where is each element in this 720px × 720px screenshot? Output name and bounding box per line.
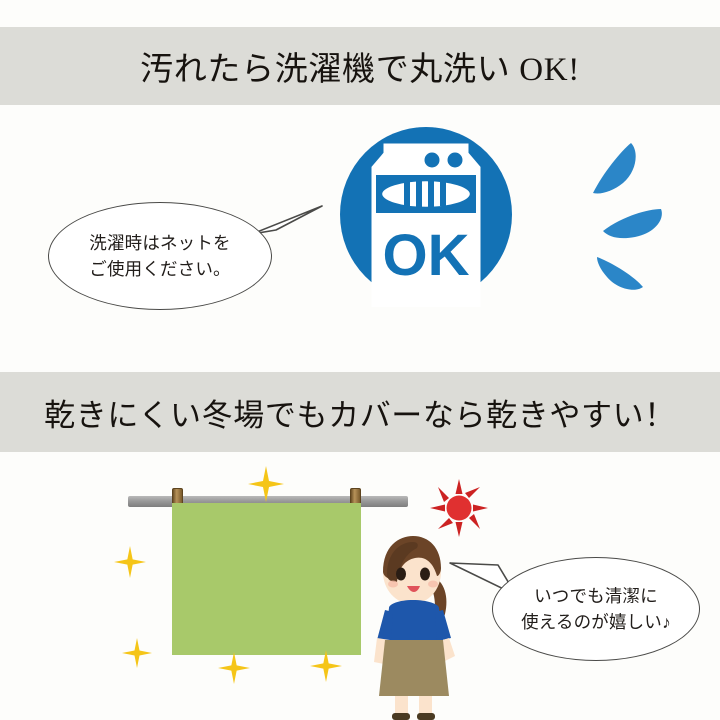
bubble-happy-line-2: 使えるのが嬉しい♪ xyxy=(521,609,671,635)
headline-text-wash: 汚れたら洗濯機で丸洗い OK! xyxy=(140,42,580,90)
washing-machine-ok-label: OK xyxy=(383,223,470,288)
headline-banner-wash: 汚れたら洗濯機で丸洗い OK! xyxy=(0,27,720,105)
speech-bubble-wash: 洗濯時はネットを ご使用ください。 xyxy=(48,202,272,310)
speech-bubble-happy-text: いつでも清潔に 使えるのが嬉しい♪ xyxy=(521,583,671,636)
sparkle-icon xyxy=(122,638,152,668)
speech-bubble-happy: いつでも清潔に 使えるのが嬉しい♪ xyxy=(492,557,700,661)
sparkle-icon xyxy=(310,650,342,682)
sparkle-icon xyxy=(248,466,284,502)
speech-bubble-wash-text: 洗濯時はネットを ご使用ください。 xyxy=(89,230,230,283)
bubble-happy-line-1: いつでも清潔に xyxy=(521,583,671,609)
sparkle-icon xyxy=(114,546,146,578)
water-splash-icon xyxy=(585,135,695,295)
sparkle-icon xyxy=(218,652,250,684)
hanging-cover xyxy=(172,503,361,655)
washing-machine-ok-icon: OK xyxy=(340,127,512,307)
infographic-canvas: 汚れたら洗濯機で丸洗い OK! OK 洗濯時はネットを ご使用ください。 xyxy=(0,0,720,720)
headline-banner-dry: 乾きにくい冬場でもカバーなら乾きやすい！ xyxy=(0,372,720,452)
bubble-wash-line-1: 洗濯時はネットを xyxy=(89,230,230,256)
bubble-wash-line-2: ご使用ください。 xyxy=(89,256,230,282)
headline-text-dry: 乾きにくい冬場でもカバーなら乾きやすい！ xyxy=(44,390,676,435)
